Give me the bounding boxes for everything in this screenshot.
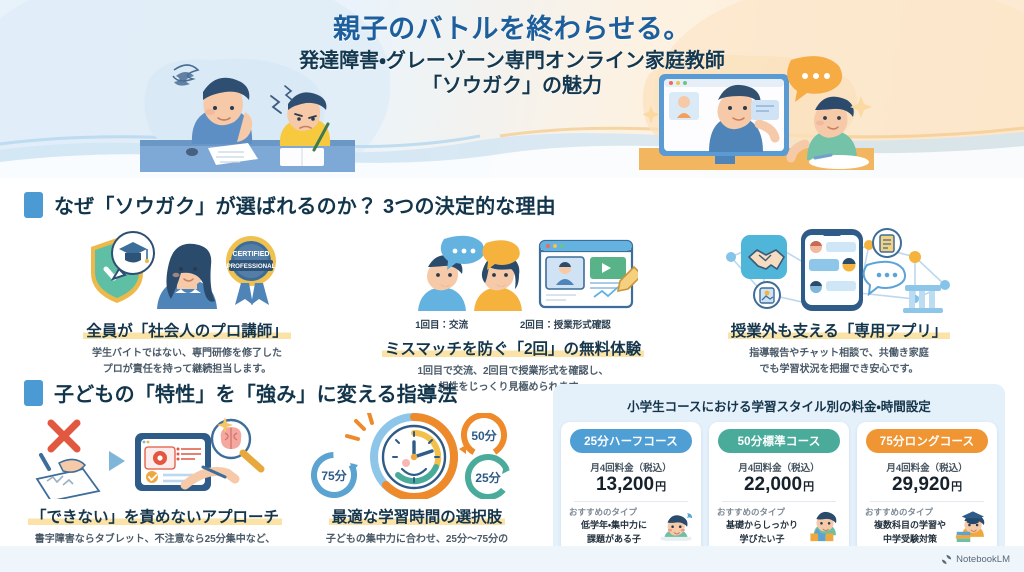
recommend-line-2: 学びたい子 [717,533,807,546]
flexible-study-time-clock-icon: 75分 50分 25分 [306,413,528,499]
fee-amount-standard: 22,000円 [714,474,844,496]
desc-line: 指導報告やチャット相談で、共働き家庭 [676,346,1002,362]
fee-label-long: 月4回料金（税込） [862,460,992,474]
fee-label-standard: 月4回料金（税込） [714,460,844,474]
trial-step-labels: 1回目：交流 2回目：授業形式確認 [350,317,676,331]
recommend-line-2: 中学受験対策 [865,533,955,546]
student-with-blocks-icon [807,508,841,542]
recommend-label: おすすめのタイプ [717,506,807,518]
method-card-1: 「できない」を責めないアプローチ 書字障害ならタブレット、不注意なら25分集中な… [24,415,286,563]
notebooklm-logo-icon [941,554,952,565]
notebooklm-label: NotebookLM [956,554,1010,565]
reason-card-3-desc: 指導報告やチャット相談で、共働き家庭 でも学習状況を把握でき安心です。 [676,346,1002,377]
reason-card-2-title: ミスマッチを防ぐ「2回」の無料体験 [382,337,644,359]
reason-card-3: 授業外も支える「専用アプリ」 指導報告やチャット相談で、共働き家庭 でも学習状況… [676,229,1002,395]
notebooklm-watermark: NotebookLM [941,554,1010,565]
section-marker-icon [24,192,43,218]
fee-value: 29,920 [892,474,950,495]
method-card-2-title: 最適な学習時間の選択肢 [329,505,506,527]
section-teaching-method: 子どもの「特性」を「強み」に変える指導法 [24,378,554,563]
reason-card-2: 1回目：交流 2回目：授業形式確認 ミスマッチを防ぐ「2回」の無料体験 1回目で… [350,229,676,395]
graduate-student-with-books-icon [955,508,989,542]
desc-line: でも学習状況を把握でき安心です。 [676,362,1002,378]
two-free-trial-lessons-icon [388,235,638,313]
certified-professional-teacher-icon: CERTIFIED PROFESSIONAL [81,229,293,313]
clock-badge-50: 50分 [471,428,497,443]
infographic-page: 親子のバトルを終わらせる。 発達障害・グレーゾーン専門オンライン家庭教師 「ソウ… [0,0,1024,572]
course-name-badge-long: 75分ロングコース [866,429,988,453]
recommend-line-1: 基礎からしっかり [717,519,807,532]
trial-step-1-label: 1回目：交流 [415,317,468,331]
svg-text:PROFESSIONAL: PROFESSIONAL [227,263,276,270]
section-method-title: 子どもの「特性」を「強み」に変える指導法 [54,378,457,407]
hero-title-block: 親子のバトルを終わらせる。 発達障害・グレーゾーン専門オンライン家庭教師 「ソウ… [0,14,1024,99]
course-name-badge-standard: 50分標準コース [718,429,840,453]
price-card-standard[interactable]: 50分標準コース 月4回料金（税込） 22,000円 おすすめのタイプ 基礎から… [709,422,849,562]
fee-value: 22,000 [744,474,802,495]
reason-card-3-title: 授業外も支える「専用アプリ」 [728,319,951,341]
section-reasons: なぜ「ソウガク」が選ばれるのか？ 3つの決定的な理由 [24,190,1004,395]
section-method-header: 子どもの「特性」を「強み」に変える指導法 [24,378,554,407]
desc-line: 学生バイトではない、専門研修を修了した [24,346,350,362]
handwriting-to-tablet-approach-icon [35,415,275,499]
method-card-1-title: 「できない」を責めないアプローチ [28,505,282,527]
card-divider [870,501,984,502]
hero-title-main: 親子のバトルを終わらせる。 [0,14,1024,46]
pricing-card-row: 25分ハーフコース 月4回料金（税込） 13,200円 おすすめのタイプ 低学年… [561,422,997,562]
recommend-block-long: おすすめのタイプ 複数科目の学習や 中学受験対策 [862,506,992,546]
recommend-block-standard: おすすめのタイプ 基礎からしっかり 学びたい子 [714,506,844,546]
clock-badge-25: 25分 [475,470,501,485]
trial-step-2-label: 2回目：授業形式確認 [520,317,611,331]
recommend-line-2: 課題がある子 [569,533,659,546]
clock-badge-75: 75分 [321,468,347,483]
desc-line: プロが責任を持って継続担当します。 [24,362,350,378]
pricing-panel: 小学生コースにおける学習スタイル別の料金・時間設定 25分ハーフコース 月4回料… [553,384,1005,560]
recommend-label: おすすめのタイプ [569,506,659,518]
fee-amount-long: 29,920円 [862,474,992,496]
method-card-2: 75分 50分 25分 最適な学習時間の選択肢 子どもの集中力に合わせ、25分〜… [286,415,548,563]
fee-currency: 円 [803,481,814,493]
footer-tint [0,546,1024,572]
fee-amount-half: 13,200円 [566,474,696,496]
young-student-at-desk-icon [659,508,693,542]
card-divider [574,501,688,502]
svg-text:CERTIFIED: CERTIFIED [233,251,270,258]
hero-subtitle-2: 「ソウガク」の魅力 [0,74,1024,99]
dedicated-support-app-icon [719,227,959,313]
reason-card-1-title: 全員が「社会人のプロ講師」 [83,319,291,341]
section-reasons-title: なぜ「ソウガク」が選ばれるのか？ 3つの決定的な理由 [54,190,556,219]
fee-label-half: 月4回料金（税込） [566,460,696,474]
pricing-panel-title: 小学生コースにおける学習スタイル別の料金・時間設定 [561,396,997,415]
section-reasons-header: なぜ「ソウガク」が選ばれるのか？ 3つの決定的な理由 [24,190,1004,219]
recommend-line-1: 複数科目の学習や [865,519,955,532]
price-card-long[interactable]: 75分ロングコース 月4回料金（税込） 29,920円 おすすめのタイプ 複数科… [857,422,997,562]
recommend-block-half: おすすめのタイプ 低学年・集中力に 課題がある子 [566,506,696,546]
fee-currency: 円 [951,481,962,493]
reason-card-1: CERTIFIED PROFESSIONAL 全員が「社会人のプロ講師」 学生バ… [24,229,350,395]
course-name-badge-half: 25分ハーフコース [570,429,692,453]
fee-currency: 円 [655,481,666,493]
section-marker-icon [24,380,43,406]
recommend-label: おすすめのタイプ [865,506,955,518]
recommend-line-1: 低学年・集中力に [569,519,659,532]
hero-subtitle-1: 発達障害・グレーゾーン専門オンライン家庭教師 [0,48,1024,74]
hero-banner: 親子のバトルを終わらせる。 発達障害・グレーゾーン専門オンライン家庭教師 「ソウ… [0,0,1024,178]
reason-card-1-desc: 学生バイトではない、専門研修を修了した プロが責任を持って継続担当します。 [24,346,350,377]
price-card-half[interactable]: 25分ハーフコース 月4回料金（税込） 13,200円 おすすめのタイプ 低学年… [561,422,701,562]
card-divider [722,501,836,502]
fee-value: 13,200 [596,474,654,495]
